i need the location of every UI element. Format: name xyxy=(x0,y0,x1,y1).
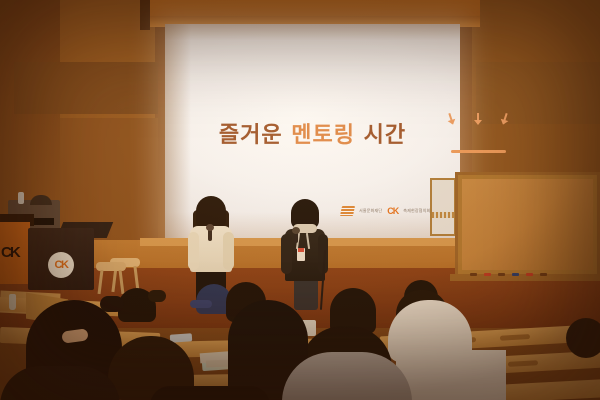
small-whiteboard-strip xyxy=(432,212,454,218)
screen-valance xyxy=(140,0,480,16)
bottle-on-cabinet xyxy=(18,192,24,204)
cap-brim-icon xyxy=(190,300,212,308)
microphone-head-icon xyxy=(292,227,300,234)
slide-title-underline xyxy=(451,150,506,153)
water-bottle xyxy=(9,294,16,310)
marker-set xyxy=(470,272,595,276)
slide-title-part1: 즐거운 xyxy=(219,123,291,148)
small-whiteboard xyxy=(430,178,456,236)
ck-badge-label: CK xyxy=(55,259,68,271)
name-badge-header xyxy=(298,248,304,252)
slide-title-part2: 시간 xyxy=(355,123,406,148)
slide-title-highlight: 멘토링 xyxy=(291,123,355,148)
slide-title: 즐거운 멘토링 시간 xyxy=(165,117,460,149)
microphone-head-icon xyxy=(206,224,214,231)
ck-circular-badge: CK xyxy=(48,252,74,278)
photo-scene: 즐거운 멘토링 시간 서울문화재단 CK 축제현장협의회 CK xyxy=(0,0,600,400)
presenter-left-arm xyxy=(188,232,199,270)
hair-tie xyxy=(148,290,166,302)
wall-slat-band-left xyxy=(14,62,158,114)
marker-icon xyxy=(498,273,505,276)
whiteboard-surface xyxy=(462,179,593,270)
audience-person-light-top xyxy=(396,350,506,400)
screen-shadow-top xyxy=(165,24,460,40)
screen-shadow-left xyxy=(165,24,191,242)
presenter-right-arm xyxy=(281,234,292,274)
presenter-right-legs xyxy=(294,278,318,310)
whiteboard xyxy=(455,172,600,277)
audience-head xyxy=(150,386,270,400)
marker-icon xyxy=(526,273,533,276)
marker-icon xyxy=(512,273,519,276)
audience-head xyxy=(566,318,600,358)
ck-banner-label: CK xyxy=(1,244,19,261)
screen-valance-edge xyxy=(140,0,150,30)
marker-icon xyxy=(484,273,491,276)
marker-icon xyxy=(540,273,547,276)
marker-icon xyxy=(470,273,477,276)
desk-notch xyxy=(500,334,530,341)
presenter-left-arm xyxy=(223,232,234,270)
hair-tie xyxy=(100,296,124,312)
desk-notch xyxy=(508,360,538,367)
